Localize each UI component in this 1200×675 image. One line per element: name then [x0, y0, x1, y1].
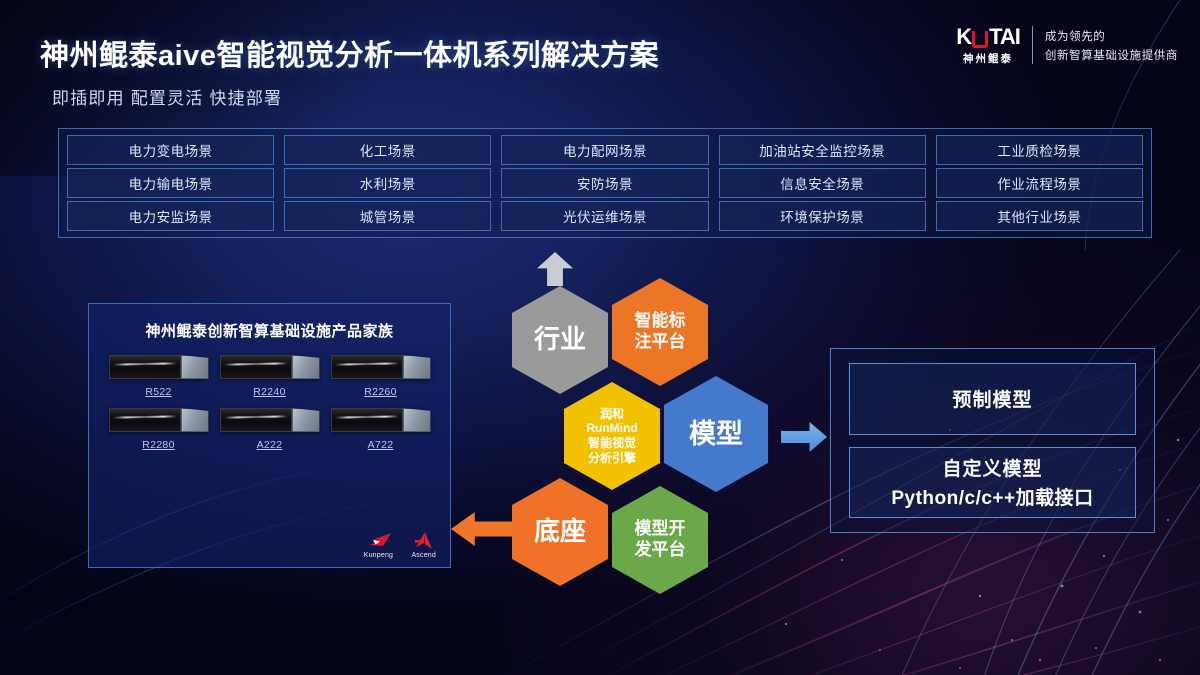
scenario-cell[interactable]: 电力变电场景 [67, 135, 274, 165]
scenario-cell[interactable]: 其他行业场景 [936, 201, 1143, 231]
hexagon-label-line: 分析引擎 [588, 451, 636, 466]
product-item[interactable]: A222 [214, 408, 325, 451]
product-label[interactable]: R2240 [253, 386, 285, 398]
product-grid: R522 R2240 R2260 R2280 A222 A722 [89, 355, 450, 451]
scenario-row: 电力安监场景 城管场景 光伏运维场景 环境保护场景 其他行业场景 [67, 201, 1143, 231]
product-label[interactable]: A722 [368, 439, 394, 451]
hexagon-label-line: 润和 [600, 407, 624, 422]
scenario-cell[interactable]: 光伏运维场景 [501, 201, 708, 231]
logo-slogan: 成为领先的 创新智算基础设施提供商 [1045, 28, 1178, 63]
scenario-cell[interactable]: 作业流程场景 [936, 168, 1143, 198]
logo-u-glyph-icon [972, 31, 988, 48]
hexagon-annotation-platform[interactable]: 智能标注平台 [612, 278, 708, 386]
server-appliance-icon [331, 355, 431, 379]
hexagon-engine[interactable]: 润和RunMind智能视觉分析引擎 [564, 382, 660, 490]
scenario-cell[interactable]: 环境保护场景 [719, 201, 926, 231]
product-family-title: 神州鲲泰创新智算基础设施产品家族 [89, 320, 450, 341]
scenario-cell[interactable]: 化工场景 [284, 135, 491, 165]
product-family-panel: 神州鲲泰创新智算基础设施产品家族 R522 R2240 R2260 R2280 … [88, 303, 451, 568]
hexagon-label-line: 模型开 [635, 519, 686, 540]
product-item[interactable]: R2280 [103, 408, 214, 451]
model-box-line1: 自定义模型 [942, 454, 1042, 481]
scenario-cell[interactable]: 水利场景 [284, 168, 491, 198]
logo-wordmark: K TAI [956, 24, 1020, 50]
server-appliance-icon [220, 408, 320, 432]
logo-letters-tai: TAI [989, 24, 1020, 50]
logo-mark: K TAI 神州鲲泰 [956, 24, 1020, 66]
scenario-cell[interactable]: 电力安监场景 [67, 201, 274, 231]
server-appliance-icon [109, 355, 209, 379]
hexagon-label-line: 行业 [534, 324, 586, 356]
partner-name: Kunpeng [364, 552, 393, 559]
server-appliance-icon [331, 408, 431, 432]
kunpeng-logo-icon [363, 532, 393, 550]
product-label[interactable]: R522 [145, 386, 171, 398]
product-item[interactable]: R522 [103, 355, 214, 398]
scenario-row: 电力输电场景 水利场景 安防场景 信息安全场景 作业流程场景 [67, 168, 1143, 198]
logo-slogan-line-1: 成为领先的 [1045, 28, 1178, 44]
page-title: 神州鲲泰aive智能视觉分析一体机系列解决方案 [40, 32, 659, 74]
hexagon-label-line: 发平台 [635, 540, 686, 561]
product-item[interactable]: A722 [325, 408, 436, 451]
logo-chinese-name: 神州鲲泰 [963, 51, 1013, 66]
scenario-cell[interactable]: 信息安全场景 [719, 168, 926, 198]
product-item[interactable]: R2240 [214, 355, 325, 398]
hexagon-label-line: 模型 [689, 418, 743, 451]
scenario-grid: 电力变电场景 化工场景 电力配网场景 加油站安全监控场景 工业质检场景 电力输电… [58, 128, 1152, 238]
hexagon-label-line: 智能标 [635, 311, 686, 332]
hexagon-model[interactable]: 模型 [664, 376, 768, 492]
hexagon-label-line: 注平台 [635, 332, 686, 353]
hexagon-model-dev-platform[interactable]: 模型开发平台 [612, 486, 708, 594]
hexagon-industry[interactable]: 行业 [512, 286, 608, 394]
brand-logo: K TAI 神州鲲泰 成为领先的 创新智算基础设施提供商 [956, 24, 1178, 66]
logo-slogan-line-2: 创新智算基础设施提供商 [1045, 47, 1178, 63]
partner-logos: Kunpeng Ascend [363, 532, 436, 559]
scenario-cell[interactable]: 电力配网场景 [501, 135, 708, 165]
product-item[interactable]: R2260 [325, 355, 436, 398]
scenario-cell[interactable]: 电力输电场景 [67, 168, 274, 198]
model-box-prebuilt[interactable]: 预制模型 [849, 363, 1136, 435]
scenario-cell[interactable]: 安防场景 [501, 168, 708, 198]
scenario-cell[interactable]: 城管场景 [284, 201, 491, 231]
product-label[interactable]: R2260 [364, 386, 396, 398]
hexagon-cluster: 行业 智能标注平台 润和RunMind智能视觉分析引擎 模型 底座 模型开发平台 [498, 278, 798, 578]
partner-kunpeng: Kunpeng [363, 532, 393, 559]
partner-name: Ascend [411, 552, 436, 559]
server-appliance-icon [109, 408, 209, 432]
logo-letter-k: K [956, 24, 971, 50]
hexagon-label-line: 智能视觉 [588, 436, 636, 451]
model-box-line2: Python/c/c++加载接口 [891, 483, 1093, 510]
hexagon-label-line: 底座 [534, 516, 586, 548]
hexagon-base[interactable]: 底座 [512, 478, 608, 586]
ascend-logo-icon [412, 532, 436, 550]
scenario-row: 电力变电场景 化工场景 电力配网场景 加油站安全监控场景 工业质检场景 [67, 135, 1143, 165]
model-box-custom[interactable]: 自定义模型 Python/c/c++加载接口 [849, 447, 1136, 519]
scenario-cell[interactable]: 加油站安全监控场景 [719, 135, 926, 165]
server-appliance-icon [220, 355, 320, 379]
page-subtitle: 即插即用 配置灵活 快捷部署 [52, 84, 282, 109]
logo-divider [1032, 26, 1033, 64]
hexagon-label-line: RunMind [586, 421, 637, 436]
partner-ascend: Ascend [411, 532, 436, 559]
model-panel: 预制模型 自定义模型 Python/c/c++加载接口 [830, 348, 1155, 533]
model-box-line1: 预制模型 [952, 385, 1032, 412]
scenario-cell[interactable]: 工业质检场景 [936, 135, 1143, 165]
product-label[interactable]: R2280 [142, 439, 174, 451]
product-label[interactable]: A222 [257, 439, 283, 451]
